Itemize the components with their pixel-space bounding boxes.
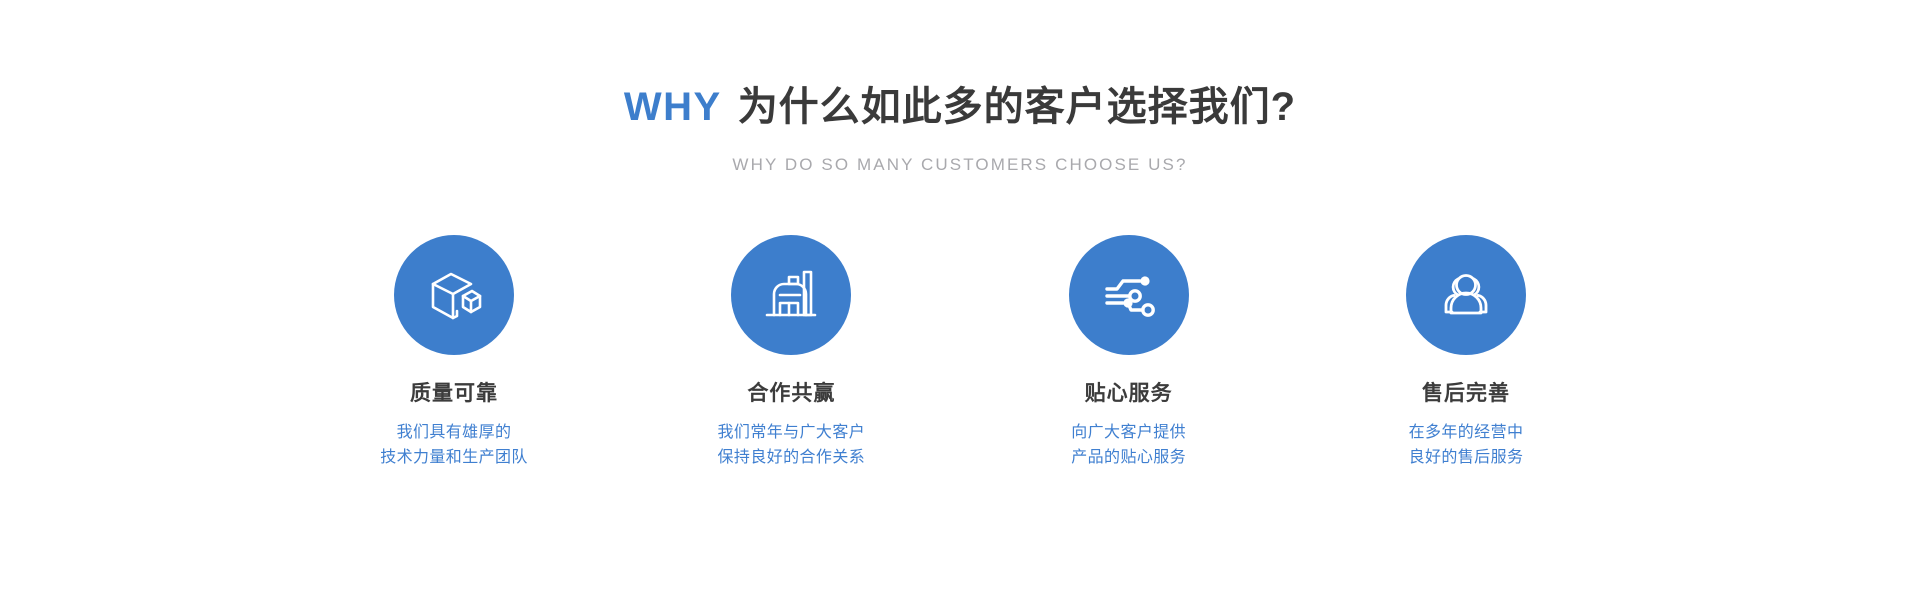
- icon-circle-cooperation: [731, 235, 851, 355]
- users-group-icon: [1435, 264, 1497, 326]
- feature-card-aftersales: 售后完善 在多年的经营中 良好的售后服务: [1316, 235, 1616, 471]
- card-description-line: 产品的贴心服务: [1071, 446, 1186, 471]
- card-description-line: 保持良好的合作关系: [718, 446, 866, 471]
- card-title: 贴心服务: [1085, 381, 1173, 406]
- card-title: 质量可靠: [410, 381, 498, 406]
- card-description-line: 我们常年与广大客户: [718, 421, 866, 446]
- feature-card-cooperation: 合作共赢 我们常年与广大客户 保持良好的合作关系: [641, 235, 941, 471]
- card-description: 向广大客户提供 产品的贴心服务: [1071, 421, 1186, 471]
- icon-circle-quality: [394, 235, 514, 355]
- circuit-nodes-icon: [1098, 264, 1160, 326]
- heading-block: WHY为什么如此多的客户选择我们? WHY DO SO MANY CUSTOME…: [624, 84, 1296, 173]
- card-description-line: 在多年的经营中: [1409, 421, 1524, 446]
- card-description-line: 我们具有雄厚的: [380, 421, 528, 446]
- icon-circle-service: [1069, 235, 1189, 355]
- why-choose-us-section: WHY为什么如此多的客户选择我们? WHY DO SO MANY CUSTOME…: [0, 0, 1920, 615]
- card-description: 我们具有雄厚的 技术力量和生产团队: [380, 421, 528, 471]
- icon-circle-aftersales: [1406, 235, 1526, 355]
- package-box-icon: [423, 264, 485, 326]
- feature-card-quality: 质量可靠 我们具有雄厚的 技术力量和生产团队: [304, 235, 604, 471]
- card-description: 我们常年与广大客户 保持良好的合作关系: [718, 421, 866, 471]
- card-description-line: 技术力量和生产团队: [380, 446, 528, 471]
- page-title: WHY为什么如此多的客户选择我们?: [624, 84, 1296, 130]
- page-subtitle: WHY DO SO MANY CUSTOMERS CHOOSE US?: [624, 156, 1296, 173]
- card-description: 在多年的经营中 良好的售后服务: [1409, 421, 1524, 471]
- factory-icon: [760, 264, 822, 326]
- feature-card-list: 质量可靠 我们具有雄厚的 技术力量和生产团队: [304, 235, 1616, 471]
- card-description-line: 良好的售后服务: [1409, 446, 1524, 471]
- feature-card-service: 贴心服务 向广大客户提供 产品的贴心服务: [979, 235, 1279, 471]
- card-description-line: 向广大客户提供: [1071, 421, 1186, 446]
- title-why-word: WHY: [624, 84, 722, 130]
- card-title: 售后完善: [1422, 381, 1510, 406]
- title-chinese: 为什么如此多的客户选择我们?: [738, 84, 1296, 130]
- card-title: 合作共赢: [747, 381, 835, 406]
